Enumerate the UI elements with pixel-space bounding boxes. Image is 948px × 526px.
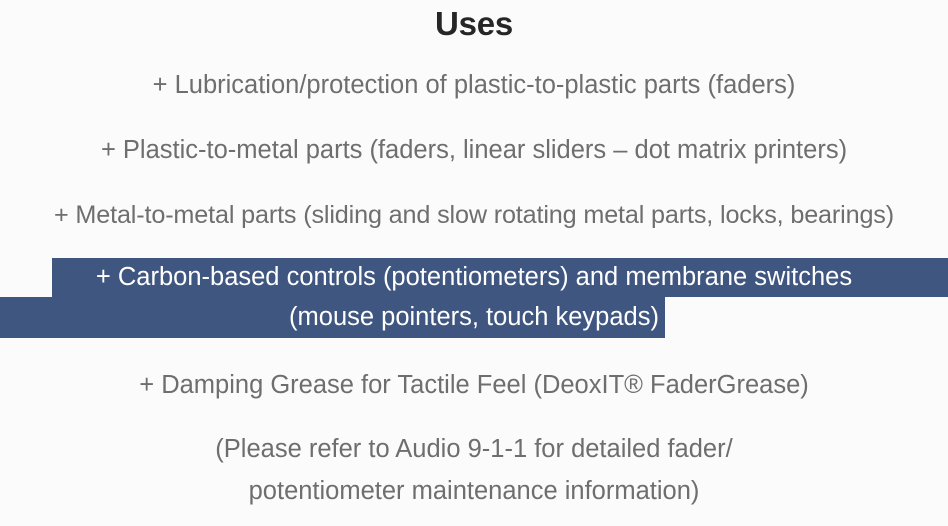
note-line-2: potentiometer maintenance information) xyxy=(0,474,948,508)
slide-canvas: Uses + Lubrication/protection of plastic… xyxy=(0,0,948,526)
selected-text-block[interactable]: + Carbon-based controls (potentiometers)… xyxy=(0,258,948,338)
bullet-item-metal-to-metal: + Metal-to-metal parts (sliding and slow… xyxy=(0,198,948,232)
bullet-item-damping-grease: + Damping Grease for Tactile Feel (DeoxI… xyxy=(0,368,948,402)
page-title: Uses xyxy=(0,2,948,46)
bullet-item-lubrication: + Lubrication/protection of plastic-to-p… xyxy=(0,68,948,102)
note-line-1: (Please refer to Audio 9-1-1 for detaile… xyxy=(0,432,948,466)
bullet-item-plastic-to-metal: + Plastic-to-metal parts (faders, linear… xyxy=(0,133,948,167)
bullet-item-carbon-based-line1: + Carbon-based controls (potentiometers)… xyxy=(0,258,948,297)
bullet-item-carbon-based-line2: (mouse pointers, touch keypads) xyxy=(0,297,948,338)
